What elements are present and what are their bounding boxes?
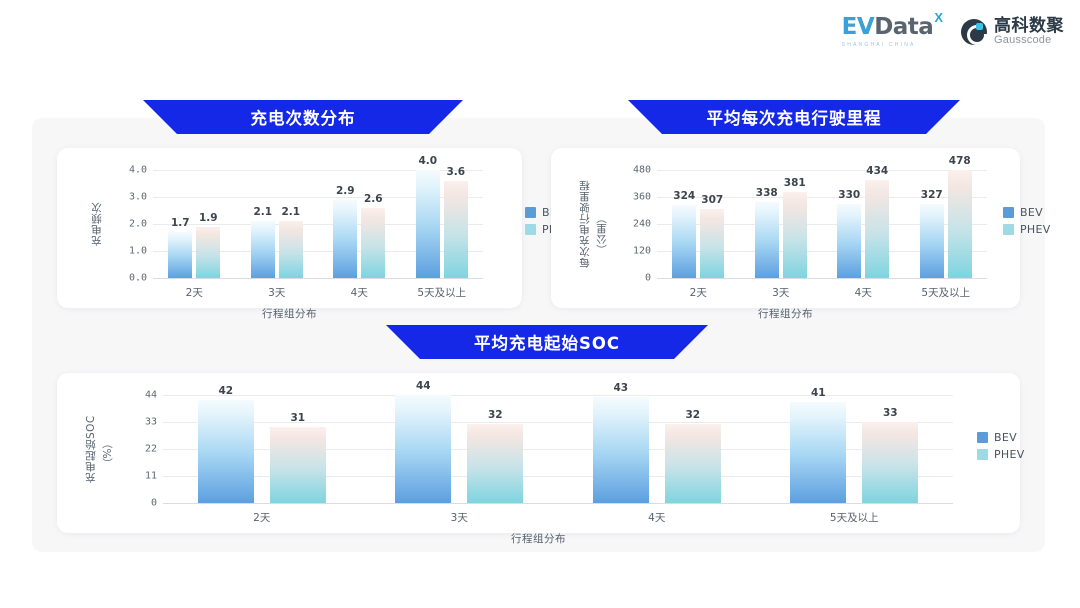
legend-item-bev[interactable]: BEV	[977, 431, 1025, 444]
gridline	[163, 395, 953, 396]
plot-area: 0.01.02.03.04.01.71.92天2.12.13天2.92.64天4…	[153, 170, 483, 278]
chart-card-1: 充电频次0.01.02.03.04.01.71.92天2.12.13天2.92.…	[57, 148, 522, 308]
bar-phev: 2.6	[361, 208, 385, 278]
x-axis-tick: 2天	[253, 510, 270, 525]
y-axis-tick: 33	[145, 417, 157, 428]
chart-card-2: 每次充电行驶里程（公里）01202403604803243072天3383813…	[551, 148, 1020, 308]
y-axis-tick: 44	[145, 390, 157, 401]
y-axis-tick: 0	[645, 273, 651, 284]
bar-value-label: 33	[883, 407, 898, 419]
bar-chart-2: 每次充电行驶里程（公里）01202403604803243072天3383813…	[551, 148, 1020, 308]
bar-value-label: 478	[949, 155, 971, 167]
x-axis-tick: 4天	[351, 285, 368, 300]
x-axis-label: 行程组分布	[551, 306, 1020, 321]
x-axis-tick: 2天	[186, 285, 203, 300]
bar-phev: 478	[948, 170, 972, 278]
y-axis-label: 充电起始SOC	[83, 395, 98, 503]
bar-value-label: 32	[488, 409, 503, 421]
y-axis-tick: 360	[633, 192, 651, 203]
y-axis-tick: 0.0	[129, 273, 147, 284]
bar-value-label: 31	[290, 412, 305, 424]
bar-phev: 2.1	[279, 221, 303, 278]
bar-value-label: 3.6	[446, 166, 465, 178]
y-axis-tick: 0	[151, 498, 157, 509]
x-axis-label: 行程组分布	[57, 306, 522, 321]
bar-bev: 4.0	[416, 170, 440, 278]
bar-value-label: 324	[673, 190, 695, 202]
plot-area: 01202403604803243072天3383813天3304344天327…	[657, 170, 987, 278]
bar-value-label: 4.0	[418, 155, 437, 167]
chart-legend: BEVPHEV	[977, 431, 1025, 461]
bar-chart-1: 充电频次0.01.02.03.04.01.71.92天2.12.13天2.92.…	[57, 148, 522, 308]
gridline	[163, 503, 953, 504]
legend-swatch-icon	[977, 432, 988, 443]
y-axis-label-unit: （%）	[100, 438, 115, 469]
bar-value-label: 43	[613, 382, 628, 394]
y-axis-tick: 4.0	[129, 165, 147, 176]
bar-phev: 32	[665, 424, 721, 503]
x-axis-tick: 5天及以上	[921, 285, 970, 300]
chart-title-text-3: 平均充电起始SOC	[474, 330, 620, 354]
bar-value-label: 327	[921, 189, 943, 201]
chart-title-banner-3: 平均充电起始SOC	[386, 325, 708, 359]
gausscode-name-cn: 高科数聚	[994, 17, 1064, 35]
x-axis-tick: 3天	[268, 285, 285, 300]
evdata-wordmark: EVData	[842, 16, 934, 39]
bar-value-label: 330	[838, 189, 860, 201]
bar-chart-3: 充电起始SOC（%）01122334442312天44323天43324天413…	[57, 373, 1020, 533]
plot-area: 01122334442312天44323天43324天41335天及以上	[163, 395, 953, 503]
x-axis-tick: 2天	[690, 285, 707, 300]
chart-card-3: 充电起始SOC（%）01122334442312天44323天43324天413…	[57, 373, 1020, 533]
bar-value-label: 381	[784, 177, 806, 189]
y-axis-tick: 22	[145, 444, 157, 455]
bar-phev: 32	[467, 424, 523, 503]
evdata-subtitle: SHANGHAI CHINA	[842, 42, 916, 48]
legend-item-bev[interactable]: BEV	[1003, 206, 1051, 219]
y-axis-tick: 480	[633, 165, 651, 176]
y-axis-label-unit: （公里）	[594, 213, 609, 255]
bar-value-label: 1.7	[171, 217, 190, 229]
x-axis-tick: 3天	[772, 285, 789, 300]
y-axis-tick: 1.0	[129, 246, 147, 257]
legend-swatch-icon	[1003, 207, 1014, 218]
bar-value-label: 41	[811, 387, 826, 399]
gridline	[153, 278, 483, 279]
evdata-x-icon: X	[934, 11, 943, 24]
evdata-word-ev: EV	[842, 14, 875, 40]
bar-bev: 42	[198, 400, 254, 503]
bar-value-label: 434	[866, 165, 888, 177]
evdata-logo: EVData X SHANGHAI CHINA	[842, 16, 943, 48]
legend-swatch-icon	[525, 207, 536, 218]
bar-value-label: 44	[416, 380, 431, 392]
bar-value-label: 42	[218, 385, 233, 397]
bar-value-label: 338	[756, 187, 778, 199]
bar-bev: 1.7	[168, 232, 192, 278]
chart-legend: BEVPHEV	[1003, 206, 1051, 236]
bar-value-label: 307	[701, 194, 723, 206]
x-axis-tick: 5天及以上	[830, 510, 879, 525]
gausscode-mark-icon	[961, 19, 987, 45]
x-axis-tick: 4天	[648, 510, 665, 525]
chart-title-banner-2: 平均每次充电行驶里程	[628, 100, 960, 134]
y-axis-tick: 11	[145, 471, 157, 482]
bar-phev: 307	[700, 209, 724, 278]
legend-label: BEV	[1020, 206, 1043, 219]
y-axis-tick: 120	[633, 246, 651, 257]
bar-bev: 2.9	[333, 200, 357, 278]
x-axis-label: 行程组分布	[57, 531, 1020, 546]
y-axis-label: 充电频次	[89, 170, 104, 278]
bar-value-label: 2.6	[364, 193, 383, 205]
legend-label: BEV	[994, 431, 1017, 444]
gausscode-name-en: Gausscode	[994, 35, 1064, 47]
x-axis-tick: 5天及以上	[417, 285, 466, 300]
legend-swatch-icon	[977, 449, 988, 460]
bar-bev: 43	[593, 397, 649, 503]
legend-item-phev[interactable]: PHEV	[977, 448, 1025, 461]
legend-swatch-icon	[1003, 224, 1014, 235]
bar-bev: 324	[672, 205, 696, 278]
bar-bev: 2.1	[251, 221, 275, 278]
bar-phev: 434	[865, 180, 889, 278]
bar-value-label: 32	[685, 409, 700, 421]
chart-title-banner-1: 充电次数分布	[143, 100, 463, 134]
bar-value-label: 2.9	[336, 185, 355, 197]
bar-bev: 327	[920, 204, 944, 278]
chart-title-text-1: 充电次数分布	[251, 105, 356, 129]
gridline	[657, 170, 987, 171]
bar-value-label: 2.1	[281, 206, 300, 218]
bar-phev: 3.6	[444, 181, 468, 278]
gausscode-logo: 高科数聚 Gausscode	[961, 17, 1064, 46]
bar-bev: 338	[755, 202, 779, 278]
chart-title-text-2: 平均每次充电行驶里程	[707, 105, 882, 129]
evdata-wordmark-row: EVData X	[842, 16, 943, 39]
bar-bev: 330	[837, 204, 861, 278]
legend-swatch-icon	[525, 224, 536, 235]
bar-phev: 33	[862, 422, 918, 503]
y-axis-tick: 3.0	[129, 192, 147, 203]
slide-canvas: EVData X SHANGHAI CHINA 高科数聚 Gausscode 充…	[0, 0, 1080, 608]
bar-phev: 31	[270, 427, 326, 503]
bar-value-label: 1.9	[199, 212, 218, 224]
y-axis-tick: 240	[633, 219, 651, 230]
legend-label: PHEV	[994, 448, 1025, 461]
y-axis-label: 每次充电行驶里程	[577, 170, 592, 278]
x-axis-tick: 4天	[855, 285, 872, 300]
gausscode-text: 高科数聚 Gausscode	[994, 17, 1064, 46]
evdata-word-data: Data	[874, 14, 933, 40]
brand-logos: EVData X SHANGHAI CHINA 高科数聚 Gausscode	[842, 16, 1064, 48]
gridline	[657, 278, 987, 279]
bar-bev: 41	[790, 402, 846, 503]
legend-item-phev[interactable]: PHEV	[1003, 223, 1051, 236]
bar-phev: 381	[783, 192, 807, 278]
bar-value-label: 2.1	[253, 206, 272, 218]
legend-label: PHEV	[1020, 223, 1051, 236]
x-axis-tick: 3天	[451, 510, 468, 525]
bar-bev: 44	[395, 395, 451, 503]
y-axis-tick: 2.0	[129, 219, 147, 230]
bar-phev: 1.9	[196, 227, 220, 278]
